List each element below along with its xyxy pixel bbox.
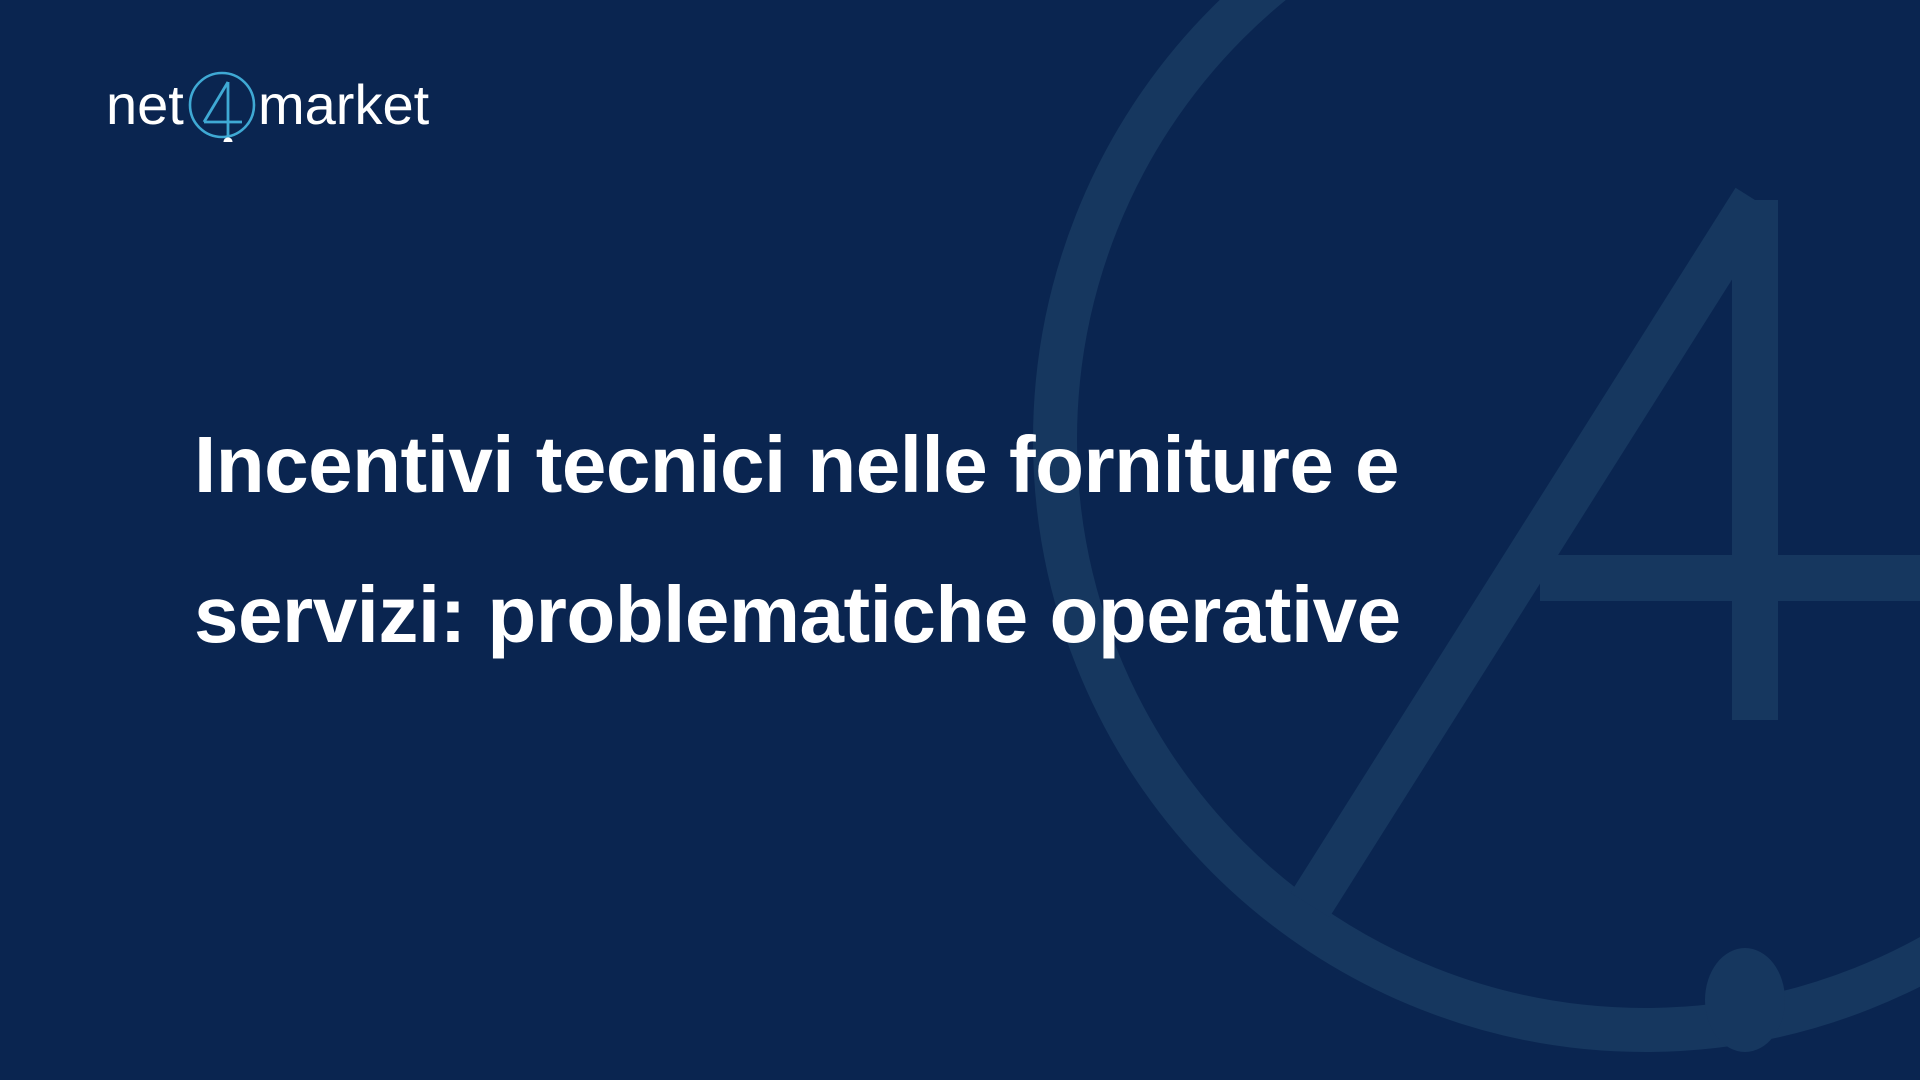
logo-badge-four — [190, 73, 254, 142]
slide-title-line-2: servizi: problematiche operative — [194, 540, 1454, 690]
logo-circle-icon — [190, 73, 254, 137]
watermark-dot-icon — [1705, 948, 1785, 1052]
brand-logo-net4market[interactable]: net market — [106, 64, 446, 142]
logo-text-net: net — [106, 73, 184, 136]
watermark-four-stem-icon — [1732, 200, 1778, 720]
watermark-four-crossbar-icon — [1540, 555, 1920, 601]
logo-four-diagonal-icon — [204, 82, 228, 122]
slide-title-line-1: Incentivi tecnici nelle forniture e — [194, 390, 1454, 540]
logo-text-market: market — [258, 73, 430, 136]
slide-canvas: net market Incentivi tecnici nelle forni… — [0, 0, 1920, 1080]
slide-title: Incentivi tecnici nelle forniture e serv… — [194, 390, 1454, 690]
